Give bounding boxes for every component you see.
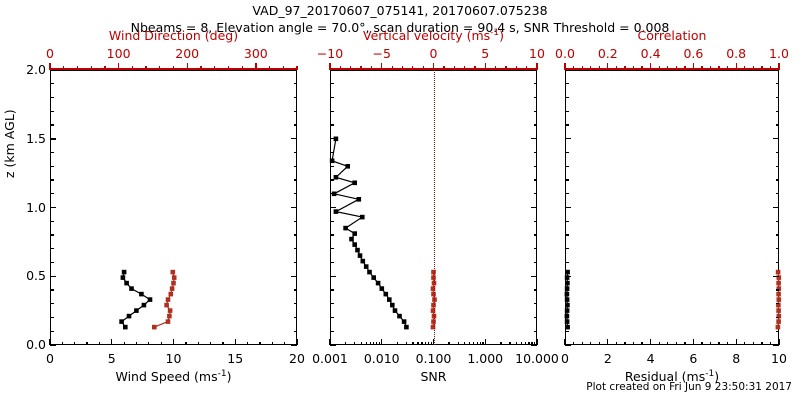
x-tick-minor xyxy=(744,342,745,346)
y-tick-minor xyxy=(565,276,571,277)
x-tick-minor xyxy=(633,342,634,346)
x-tick-minor xyxy=(469,342,470,346)
x-axis-title: SNR xyxy=(330,369,537,384)
top-tick-minor xyxy=(564,66,565,70)
x-tick-minor xyxy=(74,342,75,346)
x-tick-minor xyxy=(473,342,474,346)
y-tick-minor xyxy=(531,138,537,139)
top-tick-label: 0 xyxy=(15,46,85,61)
y-tick-minor xyxy=(291,276,297,277)
top-tick-minor xyxy=(710,66,711,70)
y-tick-minor xyxy=(776,262,780,263)
x-tick-minor xyxy=(210,342,211,346)
top-tick-minor xyxy=(676,66,677,70)
x-tick-minor xyxy=(701,342,702,346)
x-tick-minor xyxy=(528,342,529,346)
y-tick-minor xyxy=(565,193,569,194)
y-tick-minor xyxy=(330,138,336,139)
top-tick-minor xyxy=(402,66,403,70)
y-tick-minor xyxy=(534,248,538,249)
y-tick-minor xyxy=(534,331,538,332)
data-point-marker xyxy=(343,226,348,231)
y-tick-minor xyxy=(330,262,334,263)
x-tick-minor xyxy=(370,342,371,346)
data-point-marker xyxy=(376,281,381,286)
top-tick-minor xyxy=(607,66,608,70)
data-point-marker xyxy=(123,325,128,330)
y-tick-minor xyxy=(50,83,54,84)
x-tick-minor xyxy=(564,342,565,346)
x-tick-minor xyxy=(659,342,660,346)
y-tick-minor xyxy=(330,289,334,290)
x-tick-minor xyxy=(770,342,771,346)
y-tick-minor xyxy=(330,111,334,112)
x-tick-minor xyxy=(222,342,223,346)
y-tick-minor xyxy=(330,193,334,194)
data-point-marker xyxy=(171,270,176,275)
top-tick-minor xyxy=(118,66,119,70)
x-axis-title: Wind Speed (ms-1) xyxy=(50,369,297,384)
data-point-marker xyxy=(122,270,127,275)
x-tick-minor xyxy=(99,342,100,346)
x-tick-minor xyxy=(616,342,617,346)
y-tick-label: 0.5 xyxy=(10,268,46,283)
y-tick-minor xyxy=(50,289,54,290)
top-tick-minor xyxy=(360,66,361,70)
top-tick-minor xyxy=(582,66,583,70)
y-tick-minor xyxy=(534,289,538,290)
y-tick-label: 2.0 xyxy=(10,62,46,77)
top-tick-minor xyxy=(242,66,243,70)
top-tick-minor xyxy=(659,66,660,70)
x-tick-minor xyxy=(247,342,248,346)
data-point-marker xyxy=(142,303,147,308)
x-tick-minor xyxy=(173,342,174,346)
y-tick-minor xyxy=(776,179,780,180)
y-tick-minor xyxy=(294,124,298,125)
x-tick-minor xyxy=(425,342,426,346)
y-tick-minor xyxy=(565,221,569,222)
x-tick-major xyxy=(381,339,382,345)
x-tick-minor xyxy=(86,342,87,346)
data-point-marker xyxy=(167,314,172,319)
y-tick-minor xyxy=(565,152,569,153)
y-tick-minor xyxy=(294,248,298,249)
top-tick-minor xyxy=(392,66,393,70)
data-point-marker xyxy=(402,319,407,324)
y-tick-minor xyxy=(534,124,538,125)
top-tick-minor xyxy=(371,66,372,70)
y-tick-minor xyxy=(50,344,56,345)
y-tick-minor xyxy=(330,221,334,222)
data-point-marker xyxy=(168,308,173,313)
top-tick-minor xyxy=(590,66,591,70)
top-tick-label: 200 xyxy=(152,46,222,61)
y-tick-minor xyxy=(776,97,780,98)
top-tick-minor xyxy=(778,66,779,70)
x-tick-minor xyxy=(379,342,380,346)
data-point-marker xyxy=(387,297,392,302)
y-tick-minor xyxy=(776,152,780,153)
x-tick-minor xyxy=(185,342,186,346)
data-point-marker xyxy=(121,275,126,280)
x-tick-minor xyxy=(259,342,260,346)
x-tick-minor xyxy=(607,342,608,346)
x-tick-minor xyxy=(531,342,532,346)
y-tick-minor xyxy=(776,124,780,125)
y-tick-minor xyxy=(776,234,780,235)
top-tick-minor xyxy=(650,66,651,70)
y-tick-minor xyxy=(565,234,569,235)
x-tick-minor xyxy=(534,342,535,346)
data-point-marker xyxy=(352,181,357,186)
y-tick-minor xyxy=(50,207,56,208)
data-point-marker xyxy=(777,297,782,302)
y-tick-minor xyxy=(565,207,571,208)
y-tick-minor xyxy=(565,166,569,167)
top-tick-minor xyxy=(132,66,133,70)
top-tick-minor xyxy=(633,66,634,70)
top-tick-minor xyxy=(505,66,506,70)
y-tick-minor xyxy=(291,138,297,139)
y-tick-minor xyxy=(50,97,54,98)
x-tick-minor xyxy=(650,342,651,346)
data-point-marker xyxy=(164,303,169,308)
x-tick-minor xyxy=(641,342,642,346)
top-tick-minor xyxy=(624,66,625,70)
top-tick-minor xyxy=(641,66,642,70)
y-tick-minor xyxy=(50,124,54,125)
y-tick-minor xyxy=(565,179,569,180)
y-tick-minor xyxy=(294,111,298,112)
x-tick-minor xyxy=(582,342,583,346)
y-tick-minor xyxy=(50,234,54,235)
data-point-marker xyxy=(166,297,171,302)
data-point-marker xyxy=(352,242,357,247)
data-point-marker xyxy=(776,292,781,297)
y-tick-minor xyxy=(534,234,538,235)
x-tick-minor xyxy=(599,342,600,346)
data-point-marker xyxy=(565,281,570,286)
data-point-marker xyxy=(129,286,134,291)
y-tick-minor xyxy=(330,179,334,180)
y-tick-minor xyxy=(50,111,54,112)
top-tick-minor xyxy=(599,66,600,70)
x-tick-minor xyxy=(62,342,63,346)
top-tick-minor xyxy=(718,66,719,70)
data-point-marker xyxy=(172,275,177,280)
y-tick-minor xyxy=(565,97,569,98)
y-tick-minor xyxy=(50,193,54,194)
x-tick-minor xyxy=(111,342,112,346)
y-tick-minor xyxy=(565,138,571,139)
y-tick-minor xyxy=(330,166,334,167)
data-point-marker xyxy=(397,314,402,319)
top-tick-minor xyxy=(744,66,745,70)
data-point-marker xyxy=(361,259,366,264)
top-tick-minor xyxy=(412,66,413,70)
x-tick-minor xyxy=(354,342,355,346)
top-tick-minor xyxy=(145,66,146,70)
y-tick-minor xyxy=(294,234,298,235)
y-tick-minor xyxy=(565,344,571,345)
data-point-marker xyxy=(776,281,781,286)
y-tick-minor xyxy=(773,207,779,208)
top-tick-label: 1.0 xyxy=(744,46,800,61)
y-tick-minor xyxy=(776,193,780,194)
y-tick-minor xyxy=(294,179,298,180)
top-tick-minor xyxy=(573,66,574,70)
x-tick-minor xyxy=(477,342,478,346)
data-point-marker xyxy=(358,253,363,258)
top-tick-minor xyxy=(283,66,284,70)
data-point-marker xyxy=(345,164,350,169)
top-tick-minor xyxy=(214,66,215,70)
x-tick-minor xyxy=(458,342,459,346)
y-tick-minor xyxy=(534,152,538,153)
x-tick-minor xyxy=(136,342,137,346)
x-tick-minor xyxy=(373,342,374,346)
y-tick-minor xyxy=(776,317,780,318)
top-axis-title: Correlation xyxy=(565,28,779,43)
x-tick-minor xyxy=(516,342,517,346)
data-point-marker xyxy=(166,319,171,324)
data-point-marker xyxy=(565,297,570,302)
x-tick-minor xyxy=(124,342,125,346)
x-tick-minor xyxy=(272,342,273,346)
y-tick-minor xyxy=(531,207,537,208)
data-point-marker xyxy=(565,308,570,313)
x-tick-minor xyxy=(464,342,465,346)
top-tick-minor xyxy=(269,66,270,70)
top-axis-title: Vertical velocity (ms-1) xyxy=(330,28,537,43)
x-tick-minor xyxy=(296,342,297,346)
top-tick-minor xyxy=(693,66,694,70)
y-tick-minor xyxy=(330,207,336,208)
y-tick-minor xyxy=(534,111,538,112)
y-tick-minor xyxy=(330,248,334,249)
top-tick-minor xyxy=(91,66,92,70)
x-tick-minor xyxy=(161,342,162,346)
y-tick-minor xyxy=(50,152,54,153)
data-point-marker xyxy=(384,292,389,297)
data-point-marker xyxy=(776,325,781,330)
x-tick-minor xyxy=(235,342,236,346)
y-tick-minor xyxy=(330,344,336,345)
x-tick-minor xyxy=(710,342,711,346)
x-tick-label: 10 xyxy=(744,351,800,366)
data-point-marker xyxy=(139,292,144,297)
top-tick-minor xyxy=(200,66,201,70)
y-tick-minor xyxy=(50,262,54,263)
data-point-marker xyxy=(393,308,398,313)
x-tick-minor xyxy=(761,342,762,346)
top-tick-minor xyxy=(187,66,188,70)
x-tick-minor xyxy=(727,342,728,346)
x-tick-label: 0 xyxy=(15,351,85,366)
y-tick-minor xyxy=(50,317,54,318)
top-tick-minor xyxy=(381,66,382,70)
top-tick-minor xyxy=(173,66,174,70)
y-tick-minor xyxy=(565,111,569,112)
top-tick-minor xyxy=(701,66,702,70)
x-tick-minor xyxy=(736,342,737,346)
top-tick-minor xyxy=(255,66,256,70)
series-line xyxy=(154,272,174,327)
x-tick-minor xyxy=(284,342,285,346)
data-point-marker xyxy=(349,237,354,242)
y-tick-minor xyxy=(531,276,537,277)
data-point-marker xyxy=(776,319,781,324)
x-tick-minor xyxy=(366,342,367,346)
panel-wind xyxy=(50,70,297,345)
y-tick-minor xyxy=(773,138,779,139)
top-tick-minor xyxy=(423,66,424,70)
top-tick-minor xyxy=(667,66,668,70)
y-tick-minor xyxy=(50,166,54,167)
top-tick-label: 300 xyxy=(221,46,291,61)
y-tick-minor xyxy=(776,248,780,249)
top-tick-minor xyxy=(727,66,728,70)
y-tick-minor xyxy=(534,166,538,167)
top-tick-minor xyxy=(770,66,771,70)
x-tick-minor xyxy=(676,342,677,346)
x-tick-minor xyxy=(406,342,407,346)
top-tick-minor xyxy=(104,66,105,70)
data-point-marker xyxy=(404,325,409,330)
y-tick-label: 1.0 xyxy=(10,200,46,215)
x-tick-minor xyxy=(500,342,501,346)
zero-velocity-line xyxy=(434,70,435,345)
series-line xyxy=(122,272,150,327)
y-tick-minor xyxy=(294,152,298,153)
y-tick-minor xyxy=(776,111,780,112)
data-point-marker xyxy=(152,325,157,330)
y-tick-minor xyxy=(565,83,569,84)
y-tick-minor xyxy=(294,166,298,167)
y-tick-minor xyxy=(294,303,298,304)
y-tick-minor xyxy=(565,317,569,318)
y-tick-minor xyxy=(534,193,538,194)
y-tick-minor xyxy=(534,179,538,180)
y-tick-minor xyxy=(565,124,569,125)
data-point-marker xyxy=(390,303,395,308)
vad-plot-figure: VAD_97_20170607_075141, 20170607.075238 … xyxy=(0,0,800,400)
top-tick-minor xyxy=(454,66,455,70)
top-tick-minor xyxy=(329,66,330,70)
x-tick-minor xyxy=(421,342,422,346)
x-tick-minor xyxy=(431,342,432,346)
data-point-marker xyxy=(170,286,175,291)
y-tick-minor xyxy=(294,262,298,263)
top-tick-minor xyxy=(516,66,517,70)
data-point-marker xyxy=(334,209,339,214)
y-tick-minor xyxy=(534,262,538,263)
top-tick-minor xyxy=(753,66,754,70)
top-tick-minor xyxy=(536,66,537,70)
y-tick-minor xyxy=(50,276,56,277)
y-tick-minor xyxy=(330,83,334,84)
y-tick-minor xyxy=(565,331,569,332)
y-tick-minor xyxy=(330,234,334,235)
panel-wind-data xyxy=(50,70,297,347)
y-tick-minor xyxy=(330,124,334,125)
x-tick-minor xyxy=(412,342,413,346)
x-tick-minor xyxy=(428,342,429,346)
x-tick-minor xyxy=(397,342,398,346)
data-point-marker xyxy=(367,270,372,275)
x-tick-minor xyxy=(448,342,449,346)
y-tick-minor xyxy=(776,83,780,84)
y-tick-minor xyxy=(776,289,780,290)
data-point-marker xyxy=(565,319,570,324)
y-tick-minor xyxy=(776,331,780,332)
x-tick-minor xyxy=(693,342,694,346)
x-tick-minor xyxy=(148,342,149,346)
data-point-marker xyxy=(119,319,124,324)
y-tick-minor xyxy=(330,97,334,98)
x-tick-minor xyxy=(753,342,754,346)
y-tick-minor xyxy=(294,317,298,318)
x-tick-label: 15 xyxy=(200,351,270,366)
x-tick-minor xyxy=(573,342,574,346)
data-point-marker xyxy=(355,248,360,253)
top-tick-minor xyxy=(485,66,486,70)
y-tick-minor xyxy=(294,331,298,332)
y-tick-minor xyxy=(291,207,297,208)
x-tick-major xyxy=(485,339,486,345)
data-point-marker xyxy=(565,270,570,275)
y-tick-minor xyxy=(50,248,54,249)
y-tick-minor xyxy=(773,276,779,277)
y-tick-minor xyxy=(330,276,336,277)
data-point-marker xyxy=(334,175,339,180)
x-tick-label: 5 xyxy=(77,351,147,366)
figure-title: VAD_97_20170607_075141, 20170607.075238 xyxy=(0,3,800,18)
top-tick-minor xyxy=(526,66,527,70)
top-tick-minor xyxy=(474,66,475,70)
y-tick-minor xyxy=(565,262,569,263)
y-tick-minor xyxy=(330,152,334,153)
y-tick-minor xyxy=(330,317,334,318)
x-tick-minor xyxy=(198,342,199,346)
top-tick-minor xyxy=(761,66,762,70)
y-tick-minor xyxy=(776,303,780,304)
data-point-marker xyxy=(127,314,132,319)
y-tick-minor xyxy=(330,331,334,332)
y-tick-minor xyxy=(294,289,298,290)
x-tick-minor xyxy=(525,342,526,346)
y-tick-minor xyxy=(534,97,538,98)
top-tick-minor xyxy=(443,66,444,70)
data-point-marker xyxy=(565,292,570,297)
series-line xyxy=(332,139,406,327)
top-tick-minor xyxy=(63,66,64,70)
y-tick-minor xyxy=(294,221,298,222)
top-tick-minor xyxy=(228,66,229,70)
y-tick-minor xyxy=(776,221,780,222)
data-point-marker xyxy=(364,264,369,269)
y-tick-minor xyxy=(534,221,538,222)
y-tick-minor xyxy=(776,166,780,167)
y-tick-minor xyxy=(50,179,54,180)
y-tick-minor xyxy=(565,289,569,290)
top-tick-minor xyxy=(495,66,496,70)
x-tick-minor xyxy=(778,342,779,346)
top-tick-minor xyxy=(684,66,685,70)
x-tick-minor xyxy=(521,342,522,346)
data-point-marker xyxy=(776,308,781,313)
